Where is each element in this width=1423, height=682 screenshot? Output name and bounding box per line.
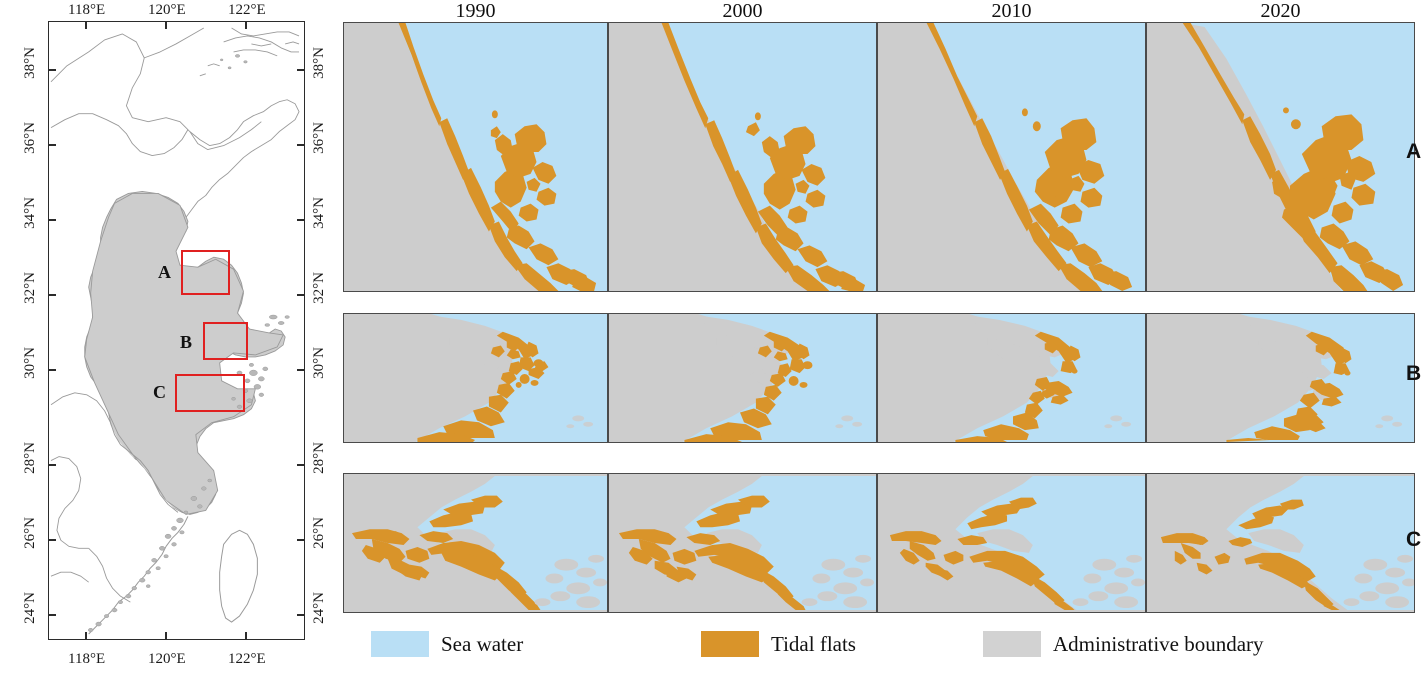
tick-left-26: [49, 539, 56, 541]
tick-right-24: [297, 614, 304, 616]
tidal-flats-label: Tidal flats: [771, 632, 856, 657]
lat-label-left-36: 36°N: [22, 122, 39, 154]
panel-row-c: [343, 473, 1415, 613]
tick-left-36: [49, 144, 56, 146]
panel-a-2020[interactable]: [1146, 22, 1415, 292]
lat-label-right-36: 36°N: [311, 122, 328, 154]
panel-b-2000-map: [609, 314, 876, 442]
locator-map-geometry: [49, 22, 304, 639]
panel-c-2020[interactable]: [1146, 473, 1415, 613]
lat-label-right-24: 24°N: [311, 592, 328, 624]
study-box-a-label: A: [158, 262, 171, 283]
tick-bottom-120: [165, 632, 167, 639]
tick-top-122: [245, 22, 247, 29]
lon-label-top-122: 122°E: [228, 2, 266, 19]
panel-c-1990-map: [344, 474, 607, 612]
panel-a-1990[interactable]: [343, 22, 608, 292]
panel-c-2010[interactable]: [877, 473, 1146, 613]
panel-c-1990[interactable]: [343, 473, 608, 613]
lat-label-right-32: 32°N: [311, 272, 328, 304]
tick-right-30: [297, 369, 304, 371]
figure-legend: Sea water Tidal flats Administrative bou…: [343, 627, 1423, 667]
tick-right-28: [297, 464, 304, 466]
tick-right-26: [297, 539, 304, 541]
panel-b-1990[interactable]: [343, 313, 608, 443]
year-label-2010: 2010: [877, 0, 1146, 23]
row-label-b: B: [1406, 362, 1421, 386]
tick-top-118: [85, 22, 87, 29]
legend-sea-water: Sea water: [371, 631, 523, 657]
row-label-c: C: [1406, 528, 1421, 552]
year-label-2020: 2020: [1146, 0, 1415, 23]
panel-a-1990-map: [344, 23, 607, 291]
panel-b-2010[interactable]: [877, 313, 1146, 443]
lat-label-left-28: 28°N: [22, 442, 39, 474]
panel-a-2020-map: [1147, 23, 1414, 291]
panel-grid: 1990 2000 2010 2020: [343, 0, 1423, 682]
lon-label-bottom-122: 122°E: [228, 651, 266, 668]
tick-left-32: [49, 294, 56, 296]
lat-label-left-26: 26°N: [22, 517, 39, 549]
tick-left-34: [49, 219, 56, 221]
panel-a-2000-map: [609, 23, 876, 291]
lon-label-top-120: 120°E: [148, 2, 186, 19]
panel-b-2010-map: [878, 314, 1145, 442]
panel-c-2000[interactable]: [608, 473, 877, 613]
lon-label-bottom-118: 118°E: [68, 651, 105, 668]
tick-bottom-122: [245, 632, 247, 639]
lat-label-left-24: 24°N: [22, 592, 39, 624]
lat-label-right-34: 34°N: [311, 197, 328, 229]
panel-row-b: [343, 313, 1415, 443]
row-label-a: A: [1406, 140, 1421, 164]
legend-administrative-boundary: Administrative boundary: [983, 631, 1264, 657]
lat-label-right-26: 26°N: [311, 517, 328, 549]
lat-label-left-34: 34°N: [22, 197, 39, 229]
figure-root: 118°E 120°E 122°E 118°E 120°E 122°E 38°N…: [0, 0, 1423, 682]
tick-left-24: [49, 614, 56, 616]
sea-water-swatch: [371, 631, 429, 657]
lat-label-right-38: 38°N: [311, 47, 328, 79]
tick-right-32: [297, 294, 304, 296]
lat-label-right-30: 30°N: [311, 347, 328, 379]
tick-right-34: [297, 219, 304, 221]
panel-b-2020-map: [1147, 314, 1414, 442]
panel-b-1990-map: [344, 314, 607, 442]
sea-water-label: Sea water: [441, 632, 523, 657]
lon-label-bottom-120: 120°E: [148, 651, 186, 668]
locator-map-frame: A B C: [48, 21, 305, 640]
tick-right-36: [297, 144, 304, 146]
panel-a-2010-map: [878, 23, 1145, 291]
study-box-c[interactable]: [175, 374, 245, 412]
lat-label-right-28: 28°N: [311, 442, 328, 474]
tick-right-38: [297, 69, 304, 71]
administrative-boundary-label: Administrative boundary: [1053, 632, 1264, 657]
locator-map-container: 118°E 120°E 122°E 118°E 120°E 122°E 38°N…: [0, 0, 340, 682]
year-label-2000: 2000: [608, 0, 877, 23]
tick-top-120: [165, 22, 167, 29]
lon-label-top-118: 118°E: [68, 2, 105, 19]
study-box-b-label: B: [180, 332, 192, 353]
lat-label-left-38: 38°N: [22, 47, 39, 79]
panel-c-2010-map: [878, 474, 1145, 612]
panel-b-2020[interactable]: [1146, 313, 1415, 443]
legend-tidal-flats: Tidal flats: [701, 631, 856, 657]
panel-c-2020-map: [1147, 474, 1414, 612]
tick-left-38: [49, 69, 56, 71]
study-box-c-label: C: [153, 382, 166, 403]
lat-label-left-30: 30°N: [22, 347, 39, 379]
panel-a-2000[interactable]: [608, 22, 877, 292]
study-box-b[interactable]: [203, 322, 248, 360]
panel-a-2010[interactable]: [877, 22, 1146, 292]
tick-left-28: [49, 464, 56, 466]
tidal-flats-swatch: [701, 631, 759, 657]
lat-label-left-32: 32°N: [22, 272, 39, 304]
tick-bottom-118: [85, 632, 87, 639]
study-box-a[interactable]: [181, 250, 230, 295]
panel-b-2000[interactable]: [608, 313, 877, 443]
tick-left-30: [49, 369, 56, 371]
panel-c-2000-map: [609, 474, 876, 612]
administrative-boundary-swatch: [983, 631, 1041, 657]
year-label-1990: 1990: [343, 0, 608, 23]
panel-row-a: [343, 22, 1415, 292]
